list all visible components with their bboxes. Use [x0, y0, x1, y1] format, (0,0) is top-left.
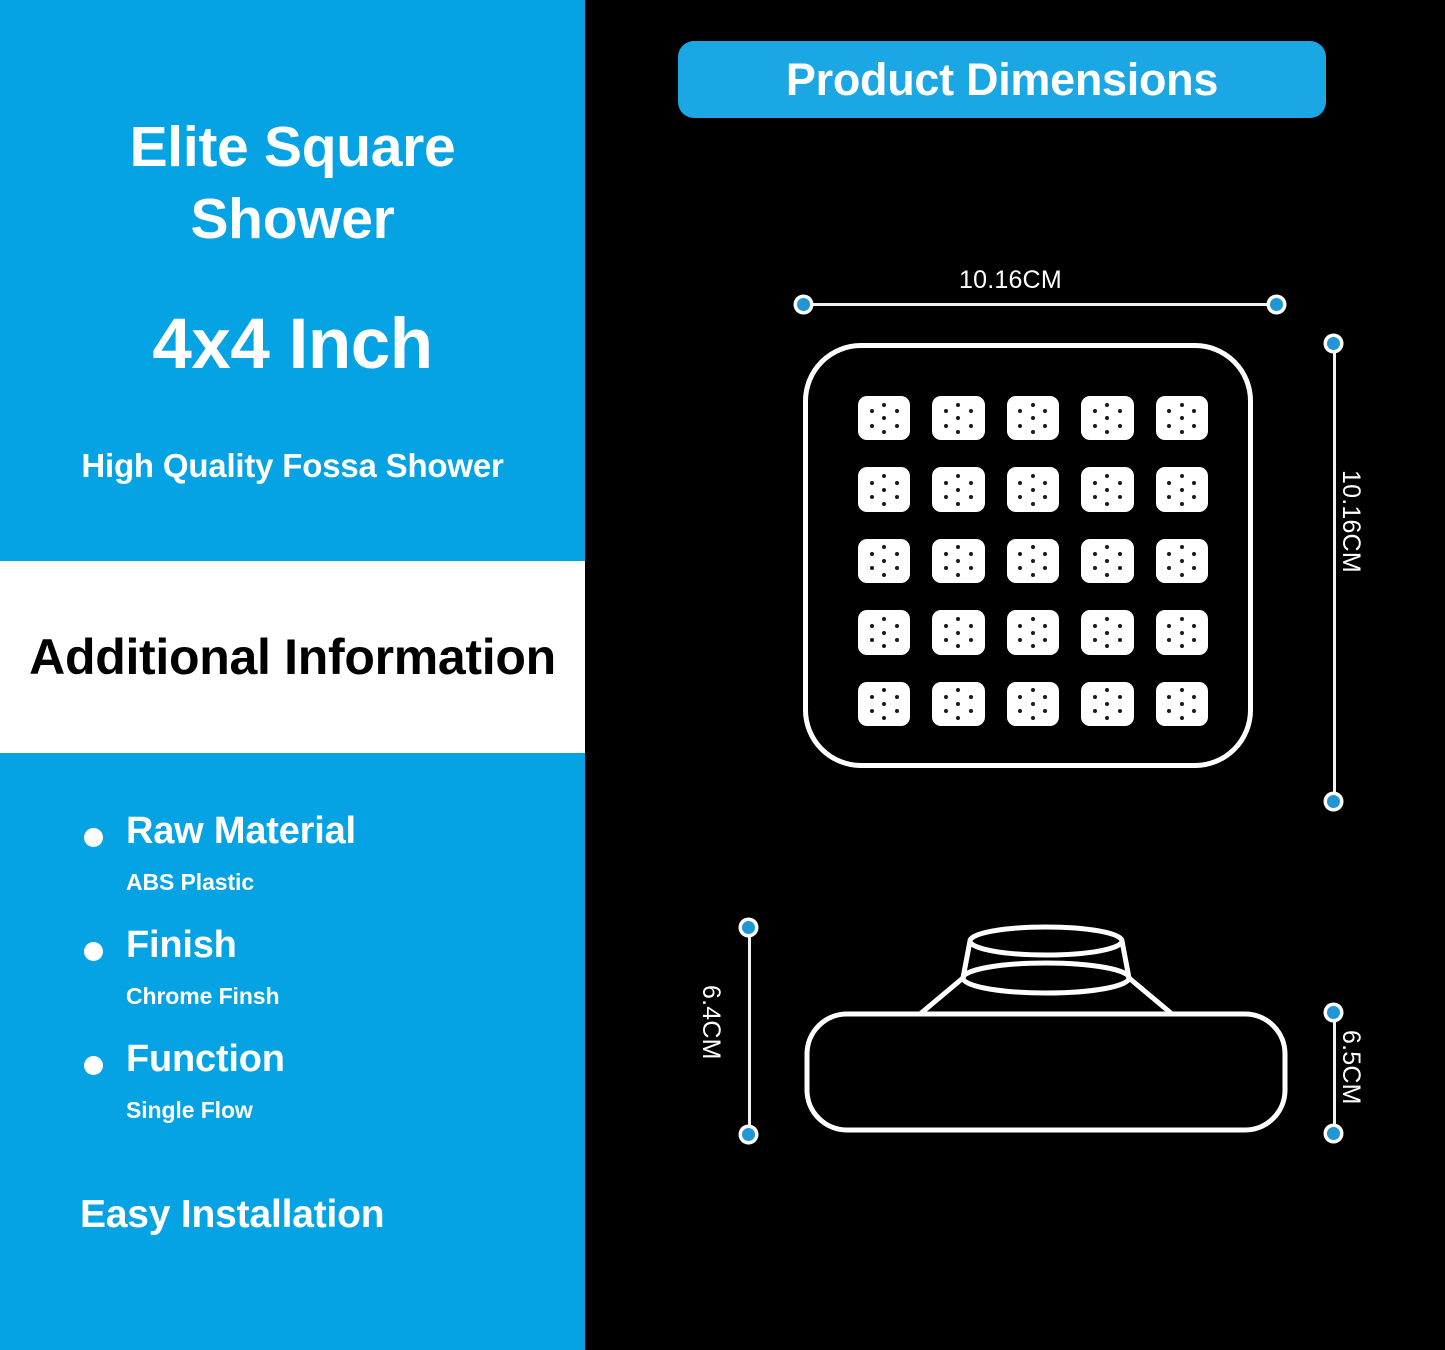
side-view-inlet-wall-right [1122, 941, 1129, 978]
dimensions-banner-label: Product Dimensions [786, 54, 1218, 106]
nozzle [1081, 467, 1133, 511]
spec-label-finish: Finish [80, 926, 585, 966]
nozzle [932, 539, 984, 583]
nozzle [858, 610, 910, 654]
measure-endpoint-dot [1327, 1127, 1340, 1140]
measure-line-front-width [804, 303, 1277, 306]
nozzle [1081, 396, 1133, 440]
title-block: Elite Square Shower 4x4 Inch High Qualit… [0, 112, 585, 485]
nozzle [1081, 610, 1133, 654]
spec-label-raw-material: Raw Material [80, 812, 585, 852]
spec-value-finish: Chrome Finsh [80, 983, 585, 1010]
easy-installation-label: Easy Installation [80, 1193, 384, 1237]
measure-endpoint-dot [1270, 298, 1283, 311]
nozzle [1007, 610, 1059, 654]
measure-endpoint-dot [742, 1128, 755, 1141]
infographic-page: Elite Square Shower 4x4 Inch High Qualit… [0, 0, 1445, 1350]
measure-endpoint-dot [1327, 1006, 1340, 1019]
nozzle [858, 682, 910, 726]
measure-label-side-height-right: 6.5CM [1336, 1030, 1365, 1105]
side-view-body [807, 1014, 1285, 1130]
side-view-neck-left [920, 978, 963, 1014]
nozzle [932, 682, 984, 726]
list-item: Function Single Flow [0, 1040, 585, 1124]
nozzle [1007, 396, 1059, 440]
side-view-neck-right [1129, 978, 1172, 1014]
shower-head-front-view [803, 343, 1253, 768]
product-dimensions-panel: Product Dimensions 10.16CM 10.16CM [585, 0, 1445, 1350]
side-view-inlet-top-ellipse [970, 927, 1122, 955]
nozzle [858, 539, 910, 583]
page-title: Elite Square Shower [0, 112, 585, 256]
nozzle [1081, 539, 1133, 583]
nozzle [1081, 682, 1133, 726]
list-item: Raw Material ABS Plastic [0, 812, 585, 896]
product-info-panel: Elite Square Shower 4x4 Inch High Qualit… [0, 0, 585, 1350]
bullet-icon [84, 942, 103, 961]
nozzle-grid [858, 396, 1208, 726]
nozzle [1156, 396, 1208, 440]
side-view-inlet-bottom-ellipse [963, 963, 1129, 993]
side-view-inlet-wall-left [963, 941, 970, 978]
dimensions-banner: Product Dimensions [678, 41, 1326, 118]
nozzle [1156, 682, 1208, 726]
nozzle [1007, 467, 1059, 511]
measure-line-side-height-left [748, 933, 751, 1135]
nozzle [932, 396, 984, 440]
measure-label-front-height: 10.16CM [1336, 470, 1365, 573]
product-size-label: 4x4 Inch [0, 306, 585, 384]
bullet-icon [84, 828, 103, 847]
measure-endpoint-dot [797, 298, 810, 311]
measure-endpoint-dot [1327, 337, 1340, 350]
measure-line-front-height [1333, 349, 1336, 802]
nozzle [1007, 682, 1059, 726]
product-tagline: High Quality Fossa Shower [0, 447, 585, 485]
nozzle [1007, 539, 1059, 583]
bullet-icon [84, 1056, 103, 1075]
spec-value-function: Single Flow [80, 1097, 585, 1124]
measure-endpoint-dot [1327, 795, 1340, 808]
nozzle [932, 467, 984, 511]
nozzle [1156, 467, 1208, 511]
nozzle [932, 610, 984, 654]
additional-information-band: Additional Information [0, 561, 585, 753]
spec-label-function: Function [80, 1040, 585, 1080]
nozzle [858, 396, 910, 440]
spec-value-raw-material: ABS Plastic [80, 869, 585, 896]
additional-information-heading: Additional Information [29, 627, 556, 688]
measure-endpoint-dot [742, 921, 755, 934]
spec-list: Raw Material ABS Plastic Finish Chrome F… [0, 812, 585, 1124]
nozzle [1156, 610, 1208, 654]
measure-label-front-width: 10.16CM [959, 266, 1062, 295]
list-item: Finish Chrome Finsh [0, 926, 585, 1010]
nozzle [1156, 539, 1208, 583]
nozzle [858, 467, 910, 511]
measure-label-side-height-left: 6.4CM [696, 985, 725, 1060]
